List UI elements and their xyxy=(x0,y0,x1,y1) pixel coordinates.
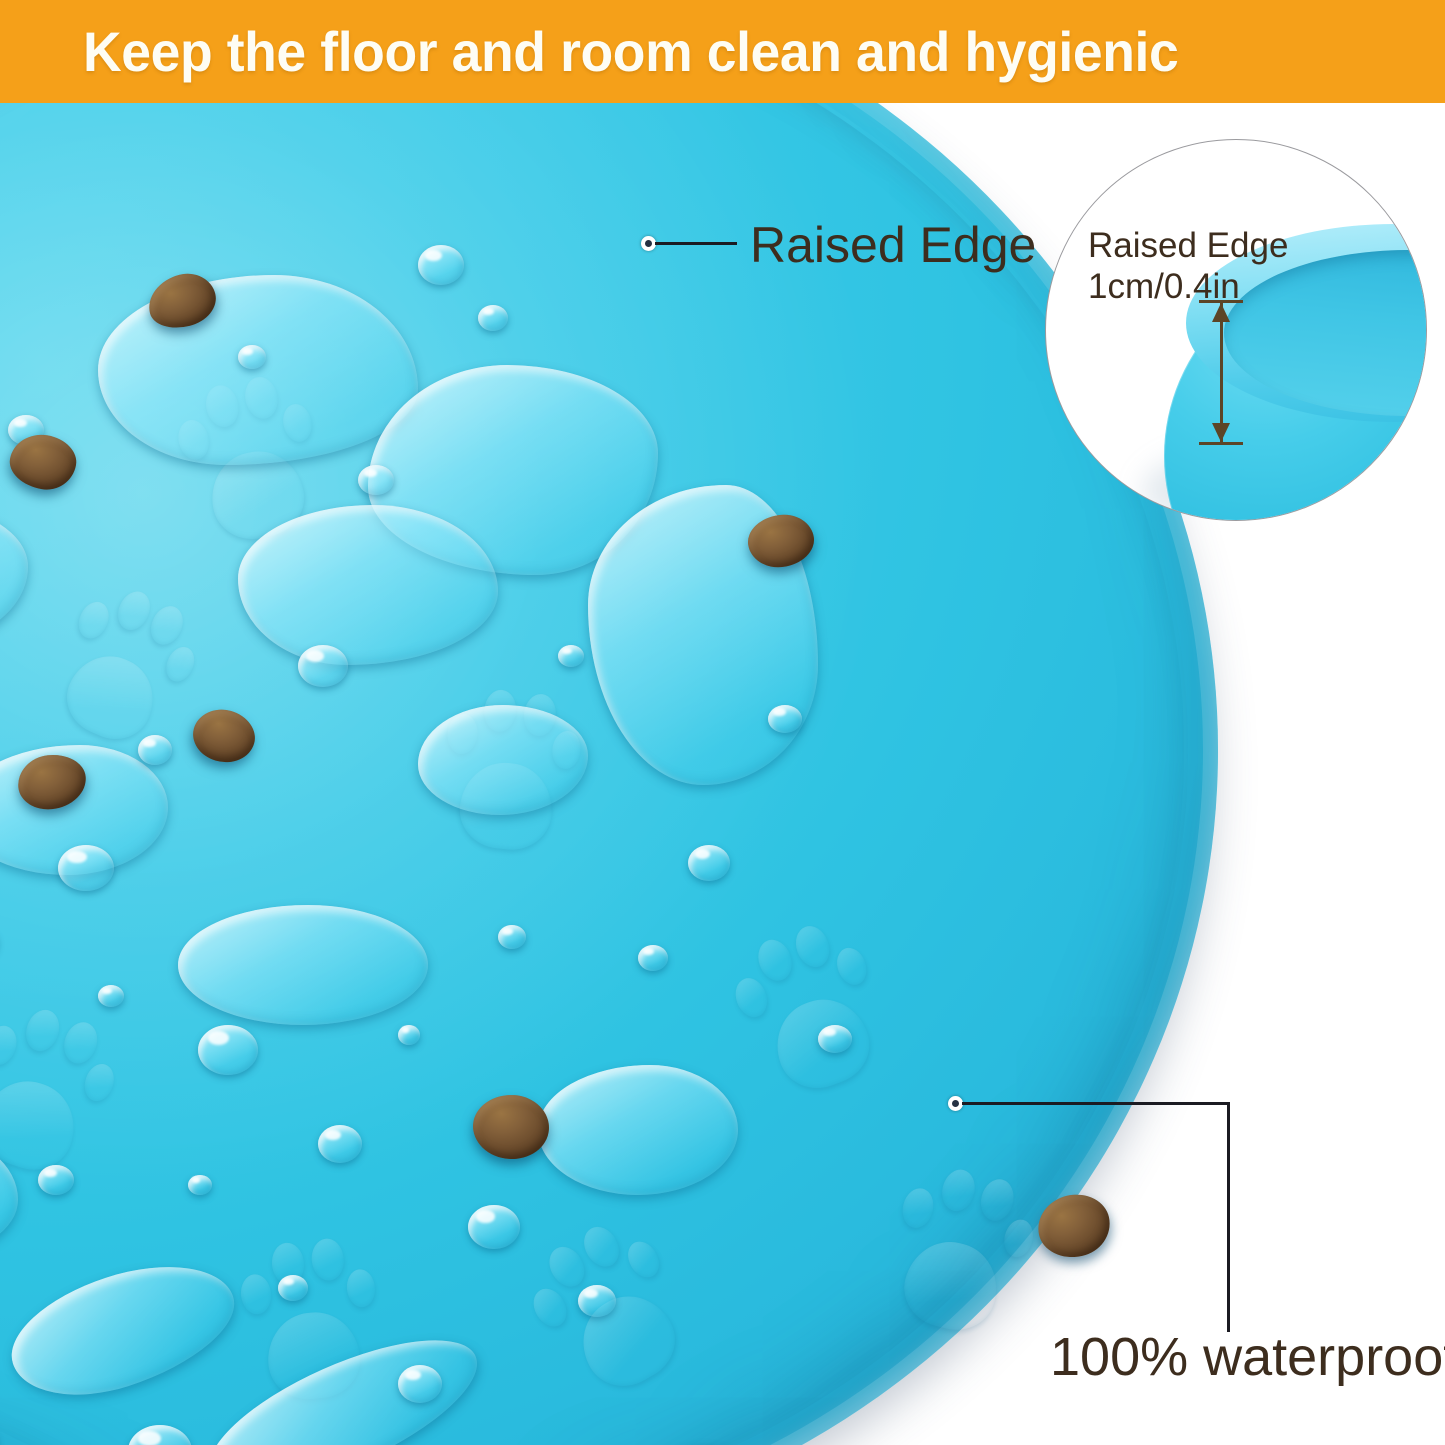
water-droplet xyxy=(58,845,114,891)
dimension-cap-bottom xyxy=(1199,442,1243,445)
water-droplet xyxy=(398,1025,420,1045)
water-droplet xyxy=(558,645,584,667)
callout-dot-icon xyxy=(641,236,656,251)
inset-measurement-text: Raised Edge 1cm/0.4in xyxy=(1088,226,1288,307)
water-droplet xyxy=(418,245,464,285)
product-feature-image: Keep the floor and room clean and hygien… xyxy=(0,0,1445,1445)
headline-banner: Keep the floor and room clean and hygien… xyxy=(0,0,1445,103)
dimension-arrowhead-down xyxy=(1212,423,1230,442)
water-droplet xyxy=(688,845,730,881)
water-droplet xyxy=(818,1025,852,1053)
water-droplet xyxy=(398,1365,442,1403)
water-droplet xyxy=(138,735,172,765)
callout-label-raised-edge: Raised Edge xyxy=(750,216,1036,274)
callout-leader-line xyxy=(655,242,737,245)
feeding-mat xyxy=(0,103,1218,1445)
water-droplet xyxy=(768,705,802,733)
water-droplet xyxy=(198,1025,258,1075)
water-droplet xyxy=(578,1285,616,1317)
water-droplet xyxy=(358,465,394,495)
water-droplet xyxy=(478,305,508,331)
callout-dot-icon xyxy=(948,1096,963,1111)
callout-leader-line-horizontal xyxy=(962,1102,1230,1105)
headline-text: Keep the floor and room clean and hygien… xyxy=(83,24,1178,80)
callout-leader-line-vertical xyxy=(1227,1102,1230,1332)
water-droplet xyxy=(498,925,526,949)
water-droplet xyxy=(638,945,668,971)
water-puddle xyxy=(538,1065,738,1195)
water-droplet xyxy=(98,985,124,1007)
water-puddle xyxy=(98,275,418,465)
double-arrow-vertical-icon xyxy=(1199,300,1243,445)
callout-label-waterproof: 100% waterproof xyxy=(1050,1326,1445,1388)
inset-title: Raised Edge xyxy=(1088,226,1288,267)
inset-measurement: 1cm/0.4in xyxy=(1088,267,1288,308)
water-droplet xyxy=(188,1175,212,1195)
water-puddle xyxy=(178,905,428,1025)
dimension-arrowhead-up xyxy=(1212,303,1230,322)
water-droplet xyxy=(298,645,348,687)
water-droplet xyxy=(38,1165,74,1195)
water-droplet xyxy=(318,1125,362,1163)
water-droplet xyxy=(278,1275,308,1301)
water-droplet xyxy=(468,1205,520,1249)
magnifier-circle-icon: Raised Edge 1cm/0.4in xyxy=(1045,139,1427,521)
water-droplet xyxy=(238,345,266,369)
